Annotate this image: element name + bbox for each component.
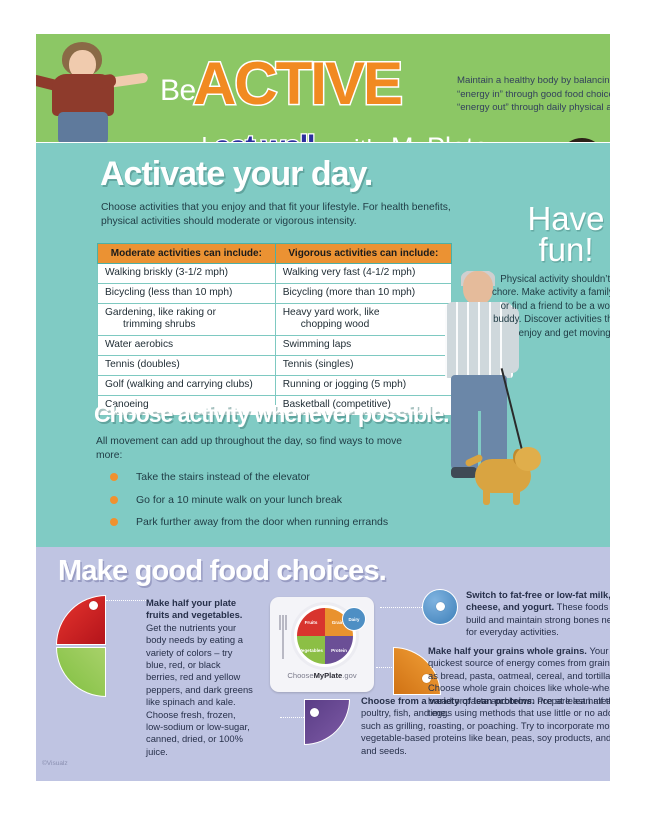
table-header-row: Moderate activities can include: Vigorou… [98,244,452,264]
table-cell-vigorous: Running or jogging (5 mph) [275,375,451,395]
bullet-dot-icon [110,473,118,481]
food-block-fruits-heading: Make half your plate fruits and vegetabl… [146,597,242,620]
fork-icon [279,615,287,659]
food-block-fruits-body: Get the nutrients your body needs by eat… [146,622,253,757]
myplate-caption-brand: MyPlate [314,671,343,680]
fruits-wedge-icon [56,595,106,645]
protein-wedge-dot [310,708,319,717]
activities-table: Moderate activities can include: Vigorou… [97,243,452,416]
table-body: Walking briskly (3-1/2 mph)Walking very … [98,264,452,416]
table-cell-vigorous: Tennis (singles) [275,356,451,376]
food-block-protein-heading: Choose from a variety of lean proteins. [361,695,537,706]
header-word-eat-well: eat well [214,130,314,142]
man-head [463,271,493,305]
table-cell-vigorous: Swimming laps [275,336,451,356]
header-word-active: ACTIVE [193,54,401,114]
dog-leg-rear [513,487,520,505]
header-word-with: with [336,135,380,142]
table-cell-vigorous: Bicycling (more than 10 mph) [275,283,451,303]
bullet-label: Park further away from the door when run… [136,516,388,528]
have-fun-line1: Have [491,203,610,234]
header-word-and: and [164,132,207,142]
have-fun-line2: fun! [491,234,610,265]
boy-hair [564,138,600,142]
choose-activity-subtitle: All movement can add up throughout the d… [96,435,426,463]
table-header-moderate: Moderate activities can include: [98,244,276,264]
food-block-dairy: Switch to fat-free or low-fat milk, chee… [466,589,610,639]
dog-leg-front [483,487,490,505]
activity-bullet-item: Take the stairs instead of the elevator [110,471,470,484]
myplate-caption-pre: Choose [287,671,313,680]
food-block-fruits-vegetables: Make half your plate fruits and vegetabl… [146,597,254,758]
choose-activity-bullets: Take the stairs instead of the elevatorG… [110,471,470,539]
activity-bullet-item: Go for a 10 minute walk on your lunch br… [110,494,470,507]
protein-wedge-icon [304,699,350,745]
have-fun-callout: Have fun! Physical activity shouldn’t be… [491,203,610,340]
plate-segment-vegetables: Vegetables [297,636,325,664]
table-cell-moderate: Golf (walking and carrying clubs) [98,375,276,395]
connector-fruits [106,600,146,601]
table-header-vigorous: Vigorous activities can include: [275,244,451,264]
activate-subtitle: Choose activities that you enjoy and tha… [101,201,456,229]
plate-segment-dairy: Dairy [342,607,366,631]
bullet-label: Take the stairs instead of the elevator [136,471,310,483]
table-cell-line2: trimming shrubs [105,319,268,332]
table-cell-moderate: Water aerobics [98,336,276,356]
bullet-dot-icon [110,496,118,504]
dog-head [515,447,541,471]
copyright-notice: ©Visualz [42,760,68,767]
activate-title: Activate your day. [100,155,372,194]
table-cell-moderate: Gardening, like raking ortrimming shrubs [98,303,276,335]
header-word-be: Be [160,74,196,108]
bullet-label: Go for a 10 minute walk on your lunch br… [136,494,342,506]
food-block-protein: Choose from a variety of lean proteins. … [361,695,610,757]
table-cell-moderate: Walking briskly (3-1/2 mph) [98,264,276,284]
activity-bullet-item: Park further away from the door when run… [110,516,470,529]
activate-section: Activate your day. Choose activities tha… [36,143,610,547]
table-cell-line2: chopping wood [283,319,444,332]
header-word-myplate: MyPlate. [391,132,496,142]
myplate-caption-post: .gov [342,671,356,680]
plate-segment-fruits: Fruits [297,608,325,636]
table-row: Water aerobicsSwimming laps [98,336,452,356]
dairy-circle-icon [422,589,458,625]
have-fun-body: Physical activity shouldn’t be a chore. … [491,273,610,340]
boy-photo [556,138,610,142]
bullet-dot-icon [110,518,118,526]
table-row: Tennis (doubles)Tennis (singles) [98,356,452,376]
food-block-grains-heading: Make half your grains whole grains. [428,645,590,656]
choose-activity-title: Choose activity whenever possible. [94,401,449,428]
table-cell-moderate: Bicycling (less than 10 mph) [98,283,276,303]
girl-jeans [58,112,108,142]
table-cell-vigorous: Heavy yard work, likechopping wood [275,303,451,335]
dairy-dot [436,602,445,611]
header-blurb: Maintain a healthy body by balancing “en… [457,74,610,115]
food-choices-title: Make good food choices. [58,555,386,588]
food-choices-section: Make good food choices. Fruits Grains Ve… [36,547,610,781]
plate-segment-protein: Protein [325,636,353,664]
connector-protein [280,717,306,718]
myplate-graphic: Fruits Grains Vegetables Protein Dairy C… [270,597,374,692]
connector-dairy [380,607,424,608]
table-row: Bicycling (less than 10 mph)Bicycling (m… [98,283,452,303]
table-row: Golf (walking and carrying clubs)Running… [98,375,452,395]
poster: Be ACTIVE and eat well with MyPlate. Mai… [0,0,646,815]
table-row: Walking briskly (3-1/2 mph)Walking very … [98,264,452,284]
table-cell-moderate: Tennis (doubles) [98,356,276,376]
vegetables-wedge-icon [56,647,106,697]
myplate-caption: ChooseMyPlate.gov [270,671,374,680]
girl-photo [36,34,156,142]
table-cell-vigorous: Walking very fast (4-1/2 mph) [275,264,451,284]
fruits-wedge-dot [89,601,98,610]
table-row: Gardening, like raking ortrimming shrubs… [98,303,452,335]
header-banner: Be ACTIVE and eat well with MyPlate. Mai… [36,34,610,142]
